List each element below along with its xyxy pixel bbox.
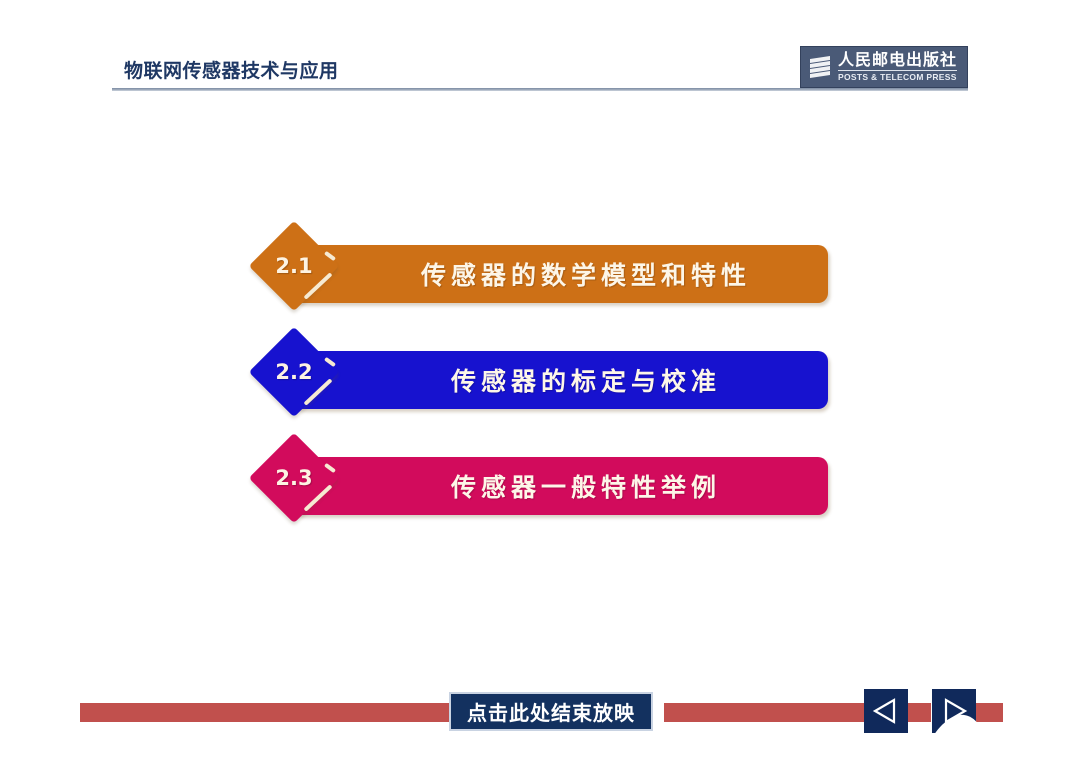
next-slide-button[interactable]: [932, 689, 976, 733]
end-show-label: 点击此处结束放映: [467, 697, 635, 726]
agenda-bar: 传感器的标定与校准: [292, 351, 828, 409]
triangle-right-icon: [939, 696, 969, 726]
agenda-item-label: 传感器一般特性举例: [399, 468, 721, 504]
publisher-logo: 人民邮电出版社 POSTS & TELECOM PRESS: [800, 46, 968, 88]
header-divider: [112, 88, 968, 91]
agenda-bar: 传感器的数学模型和特性: [292, 245, 828, 303]
agenda-item-number: 2.3: [268, 466, 320, 490]
footer-rule-left: [80, 703, 455, 722]
footer-rule-segment: [975, 703, 1003, 722]
book-pages-icon: [807, 53, 833, 81]
footer-rule-segment: [907, 703, 931, 722]
agenda-item-label: 传感器的标定与校准: [399, 362, 721, 398]
publisher-name-en: POSTS & TELECOM PRESS: [838, 73, 957, 82]
slide-canvas: 物联网传感器技术与应用 人民邮电出版社 POSTS & TELECOM PRES…: [0, 0, 1080, 764]
agenda-bar: 传感器一般特性举例: [292, 457, 828, 515]
agenda-item-number: 2.2: [268, 360, 320, 384]
page-title: 物联网传感器技术与应用: [124, 56, 339, 83]
agenda-item-2-2[interactable]: 传感器的标定与校准 2.2: [262, 334, 828, 426]
agenda-item-2-1[interactable]: 传感器的数学模型和特性 2.1: [262, 228, 828, 320]
prev-slide-button[interactable]: [864, 689, 908, 733]
agenda-item-number: 2.1: [268, 254, 320, 278]
footer-rule-right: [664, 703, 864, 722]
triangle-left-icon: [871, 696, 901, 726]
end-show-button[interactable]: 点击此处结束放映: [449, 692, 653, 731]
agenda-item-2-3[interactable]: 传感器一般特性举例 2.3: [262, 440, 828, 532]
publisher-name-cn: 人民邮电出版社: [838, 53, 957, 71]
agenda-item-label: 传感器的数学模型和特性: [369, 256, 751, 292]
